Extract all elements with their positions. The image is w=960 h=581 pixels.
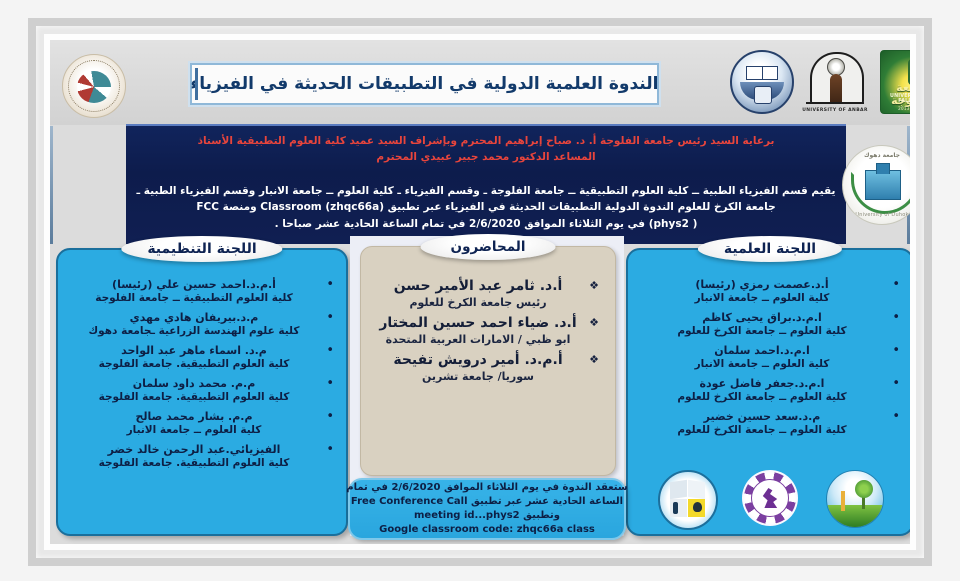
info-line-2: الساعة الحادية عشر عبر تطبيق Free Confer… [351, 495, 623, 509]
patronage-band: برعاية السيد رئيس جامعة الفلوجة أ. د. صب… [126, 124, 846, 173]
details-line-1: يقيم قسم الفيزياء الطبية ــ كلية العلوم … [129, 183, 844, 199]
list-item: أ.د. ضياء احمد حسين المختار ابو ظبي / ال… [377, 314, 599, 347]
bulb-shape [693, 502, 702, 512]
duhok-caption-ar: جامعة دهوك [843, 152, 910, 159]
list-item: الفيزيائي.عبد الرحمن خالد خضر كلية العلو… [70, 443, 334, 471]
list-item: ا.م.د.احمد سلمان كلية العلوم ــ جامعة ال… [640, 344, 900, 372]
member-affiliation: كلية علوم الهندسة الزراعية ـجامعة دهوك [70, 325, 318, 339]
member-affiliation: كلية العلوم ــ جامعة الكرخ للعلوم [640, 325, 884, 339]
speakers-list: أ.د. ثامر عبد الأمير حسن رئيس جامعة الكر… [361, 277, 615, 469]
university-of-anbar-logo-icon: UNIVERSITY OF ANBAR [802, 50, 868, 112]
scientific-committee-heading: اللجنة العلمية [698, 236, 842, 262]
conference-access-info-box: ستعقد الندوة في يوم الثلاثاء الموافق 2/6… [348, 478, 626, 540]
organizing-committee-heading: اللجنة التنظيمية [121, 236, 282, 262]
member-name: م.م. محمد داود سلمان [70, 377, 318, 391]
seal-fan [77, 71, 111, 103]
list-item: م.م. بشار محمد صالح كلية العلوم ــ جامعة… [70, 410, 334, 438]
al-karkh-university-logo-icon [730, 50, 794, 114]
fallujah-logo-caption-en: UNIVERSITY OF FALLUJAH [881, 94, 910, 104]
speaker-affiliation: رئيس جامعة الكرخ للعلوم [377, 296, 579, 310]
page-title: الندوة العلمية الدولية في التطبيقات الحد… [190, 63, 659, 105]
member-affiliation: كلية العلوم التطبيقية ــ جامعة الفلوجة [70, 292, 318, 306]
member-name: ا.م.د.براق يحيى كاظم [640, 311, 884, 325]
cube-face-1 [670, 480, 687, 499]
member-affiliation: كلية العلوم التطبيقية. جامعة الفلوجة [70, 358, 318, 372]
list-item: م.د. اسماء ماهر عبد الواحد كلية العلوم ا… [70, 344, 334, 372]
list-item: م.د.بيريفان هادي مهدي كلية علوم الهندسة … [70, 311, 334, 339]
book-shape [865, 170, 901, 200]
member-name: الفيزيائي.عبد الرحمن خالد خضر [70, 443, 318, 457]
info-line-4: Google classroom code: zhqc66a class [379, 523, 595, 537]
speaker-name: أ.د. ضياء احمد حسين المختار [377, 314, 579, 333]
member-affiliation: كلية العلوم التطبيقية. جامعة الفلوجة [70, 391, 318, 405]
member-name: ا.م.د.جعفر فاضل عودة [640, 377, 884, 391]
list-item: م.م. محمد داود سلمان كلية العلوم التطبيق… [70, 377, 334, 405]
speaker-name: أ.د. ثامر عبد الأمير حسن [377, 277, 579, 296]
minaret-shape [830, 74, 842, 104]
list-item: م.د.سعد حسين خضير كلية العلوم ــ جامعة ا… [640, 410, 900, 438]
poster-canvas: الندوة العلمية الدولية في التطبيقات الحد… [50, 40, 910, 544]
anbar-logo-caption: UNIVERSITY OF ANBAR [802, 108, 868, 113]
partner-logos-row [650, 470, 900, 532]
poster-header: الندوة العلمية الدولية في التطبيقات الحد… [50, 40, 910, 125]
patronage-line-1: برعاية السيد رئيس جامعة الفلوجة أ. د. صب… [188, 134, 785, 149]
speakers-heading: المحاضرون [421, 234, 556, 260]
speaker-affiliation: سوريا/ جامعة تشرين [377, 370, 579, 384]
university-of-anbar-seal-icon [62, 54, 126, 118]
member-affiliation: كلية العلوم ــ جامعة الانبار [640, 292, 884, 306]
member-name: م.د.سعد حسين خضير [640, 410, 884, 424]
tree-crown-shape [855, 480, 873, 498]
speaker-name: أ.م.د. أمير درويش تفيحة [377, 351, 579, 370]
member-affiliation: كلية العلوم التطبيقية. جامعة الفلوجة [70, 457, 318, 471]
list-item: ا.م.د.براق يحيى كاظم كلية العلوم ــ جامع… [640, 311, 900, 339]
duhok-caption-en: University of Duhok [843, 212, 910, 218]
details-line-2: جامعة الكرخ للعلوم الندوة الدولية التطبي… [188, 199, 783, 215]
fallujah-logo-year: 2013 - 1435 [881, 106, 910, 111]
patronage-line-2: المساعد الدكتور محمد جبير عبيدي المحترم [366, 150, 605, 165]
book-shape [746, 66, 778, 80]
shield-shape [754, 86, 772, 104]
university-of-fallujah-logo-icon: جامعة الفلوجة UNIVERSITY OF FALLUJAH 201… [880, 50, 910, 114]
list-item: ا.م.د.جعفر فاضل عودة كلية العلوم ــ جامع… [640, 377, 900, 405]
microscope-shape [673, 502, 678, 514]
member-affiliation: كلية العلوم ــ جامعة الانبار [640, 358, 884, 372]
member-name: ا.م.د.احمد سلمان [640, 344, 884, 358]
info-line-1: ستعقد الندوة في يوم الثلاثاء الموافق 2/6… [346, 481, 627, 495]
organizing-committee-list: أ.م.د.احمد حسين علي (رئيسا) كلية العلوم … [58, 278, 346, 530]
member-affiliation: كلية العلوم ــ جامعة الانبار [70, 424, 318, 438]
member-name: أ.د.عصمت رمزي (رئيسا) [640, 278, 884, 292]
list-item: أ.د.عصمت رمزي (رئيسا) كلية العلوم ــ جام… [640, 278, 900, 306]
list-item: أ.م.د. أمير درويش تفيحة سوريا/ جامعة تشر… [377, 351, 599, 384]
member-affiliation: كلية العلوم ــ جامعة الكرخ للعلوم [640, 424, 884, 438]
title-accent-bar [195, 68, 198, 100]
cube-face-2 [688, 480, 705, 499]
speaker-affiliation: ابو ظبي / الامارات العربية المتحدة [377, 333, 579, 347]
member-name: م.د. اسماء ماهر عبد الواحد [70, 344, 318, 358]
purple-star-seal-logo-icon [742, 470, 798, 526]
university-of-duhok-logo-icon: جامعة دهوك University of Duhok [842, 145, 910, 225]
speakers-panel: المحاضرون أ.د. ثامر عبد الأمير حسن رئيس … [360, 246, 616, 476]
list-item: أ.م.د.احمد حسين علي (رئيسا) كلية العلوم … [70, 278, 334, 306]
details-line-3: ( phys2) في يوم الثلاثاء الموافق 2/6/202… [267, 216, 706, 232]
arch-base [806, 102, 864, 104]
member-name: أ.م.د.احمد حسين علي (رئيسا) [70, 278, 318, 292]
organizing-committee-panel: اللجنة التنظيمية أ.م.د.احمد حسين علي (رئ… [56, 248, 348, 536]
member-name: م.م. بشار محمد صالح [70, 410, 318, 424]
info-line-3: وتطبيق meeting id...phys2 [414, 509, 560, 523]
green-tree-logo-icon [826, 470, 884, 528]
poster-root: الندوة العلمية الدولية في التطبيقات الحد… [0, 0, 960, 581]
science-cube-logo-icon [658, 470, 718, 530]
page-title-text: الندوة العلمية الدولية في التطبيقات الحد… [191, 74, 659, 94]
ground-shape [827, 505, 883, 527]
tower-shape [841, 491, 845, 511]
list-item: أ.د. ثامر عبد الأمير حسن رئيس جامعة الكر… [377, 277, 599, 310]
divider-left [50, 126, 53, 244]
member-affiliation: كلية العلوم ــ جامعة الكرخ للعلوم [640, 391, 884, 405]
member-name: م.د.بيريفان هادي مهدي [70, 311, 318, 325]
